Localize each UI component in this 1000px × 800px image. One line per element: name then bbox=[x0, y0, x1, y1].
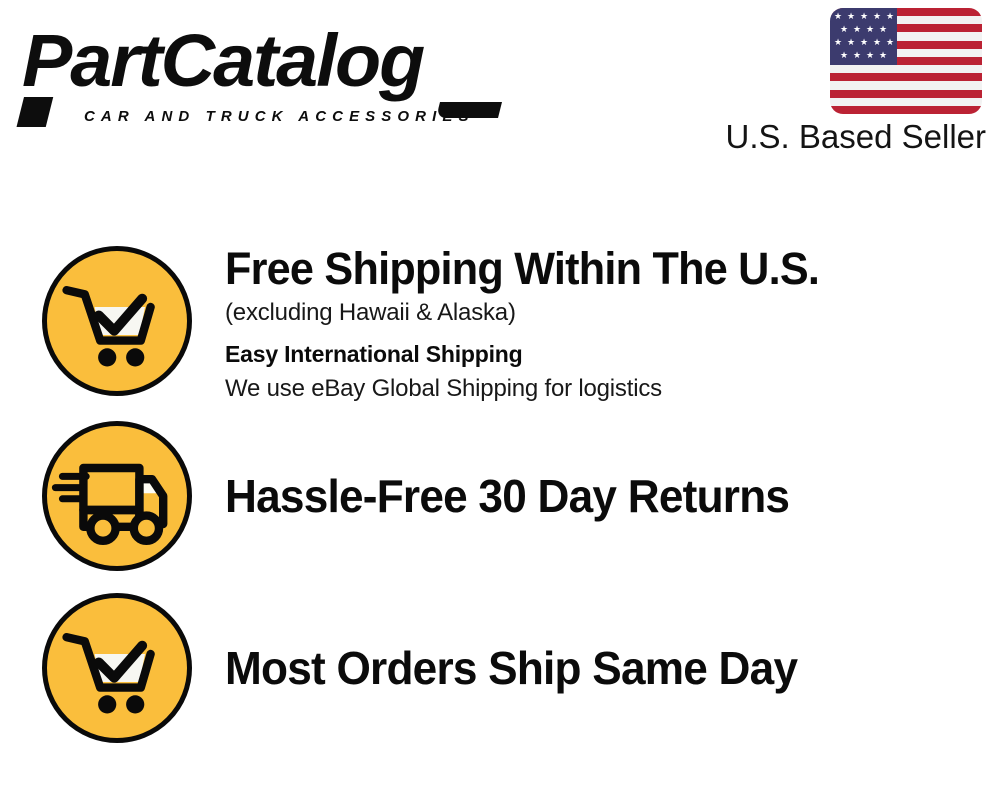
feature-text-returns: Hassle-Free 30 Day Returns bbox=[192, 468, 1000, 524]
shopping-cart-check-icon bbox=[42, 593, 192, 743]
feature-headline: Free Shipping Within The U.S. bbox=[225, 242, 969, 296]
shopping-cart-check-icon bbox=[42, 246, 192, 396]
brand-logo: PartCatalog CAR AND TRUCK ACCESSORIES bbox=[22, 20, 492, 120]
feature-text-same-day-ship: Most Orders Ship Same Day bbox=[192, 640, 1000, 696]
seller-location-label: U.S. Based Seller bbox=[716, 116, 986, 158]
feature-text-free-shipping: Free Shipping Within The U.S. (excluding… bbox=[192, 242, 1000, 406]
banner-header: PartCatalog CAR AND TRUCK ACCESSORIES ★ … bbox=[0, 0, 1000, 170]
feature-sub-note: We use eBay Global Shipping for logistic… bbox=[225, 372, 1000, 406]
flag-canton: ★ ★ ★ ★ ★ ★ ★ ★ ★ ★ ★ ★ ★ ★ ★ ★ ★ bbox=[830, 8, 897, 65]
feature-row-free-shipping: Free Shipping Within The U.S. (excluding… bbox=[0, 242, 1000, 412]
us-flag-icon: ★ ★ ★ ★ ★ ★ ★ ★ ★ ★ ★ ★ ★ ★ ★ ★ ★ bbox=[830, 8, 982, 114]
feature-row-returns: Hassle-Free 30 Day Returns bbox=[0, 418, 1000, 574]
feature-sub-headline: Easy International Shipping bbox=[225, 336, 1000, 372]
feature-row-same-day-ship: Most Orders Ship Same Day bbox=[0, 590, 1000, 746]
brand-tagline: CAR AND TRUCK ACCESSORIES bbox=[84, 108, 475, 126]
brand-wordmark: PartCatalog bbox=[22, 20, 501, 102]
feature-note: (excluding Hawaii & Alaska) bbox=[225, 296, 1000, 330]
us-based-seller-badge: ★ ★ ★ ★ ★ ★ ★ ★ ★ ★ ★ ★ ★ ★ ★ ★ ★ bbox=[716, 8, 986, 160]
feature-headline: Hassle-Free 30 Day Returns bbox=[225, 468, 969, 524]
feature-headline: Most Orders Ship Same Day bbox=[225, 640, 969, 696]
delivery-truck-icon bbox=[42, 421, 192, 571]
promo-banner: PartCatalog CAR AND TRUCK ACCESSORIES ★ … bbox=[0, 0, 1000, 800]
